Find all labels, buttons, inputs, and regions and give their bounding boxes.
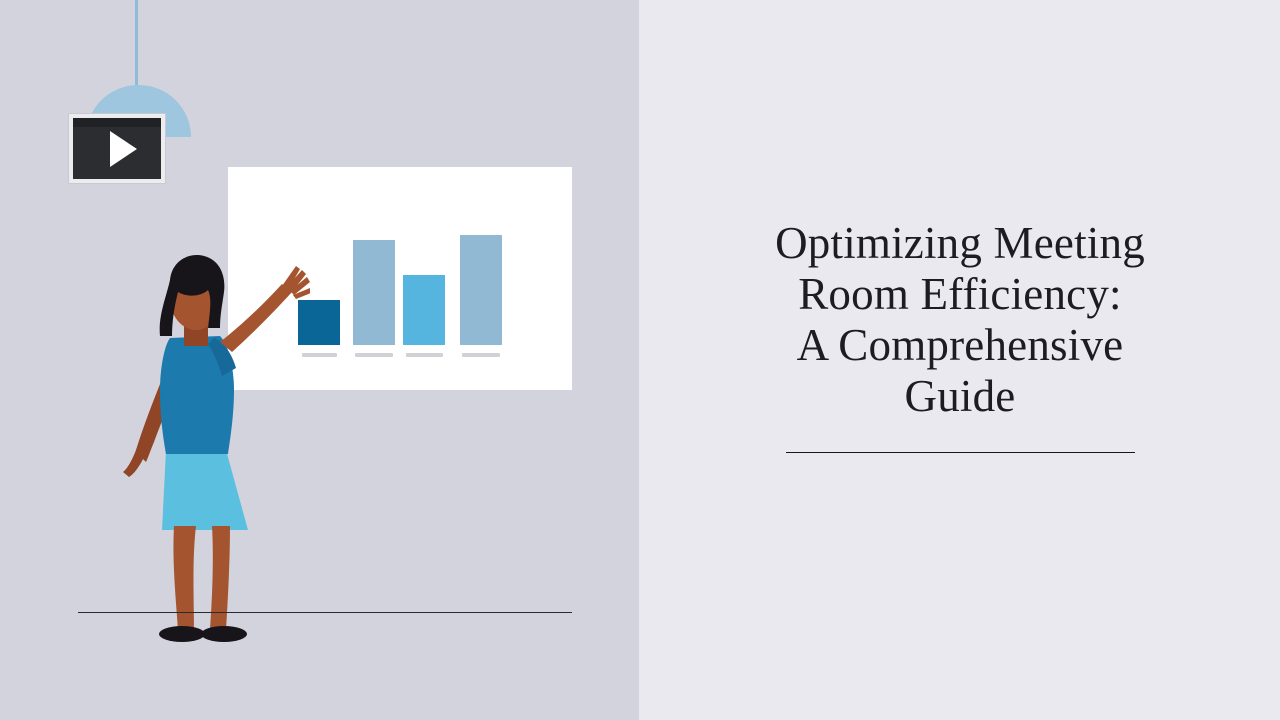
title-line-4: Guide xyxy=(712,371,1208,422)
title-block: Optimizing Meeting Room Efficiency: A Co… xyxy=(712,218,1208,422)
person-skirt xyxy=(162,450,248,530)
title-line-1: Optimizing Meeting xyxy=(712,218,1208,269)
person-left-shoe xyxy=(159,626,205,642)
page-title: Optimizing Meeting Room Efficiency: A Co… xyxy=(712,218,1208,422)
presentation-slide: Optimizing Meeting Room Efficiency: A Co… xyxy=(0,0,1280,720)
person-left-leg xyxy=(173,526,196,630)
title-divider xyxy=(786,452,1135,453)
floor-line xyxy=(78,612,572,613)
person-right-shoe xyxy=(201,626,247,642)
person-illustration xyxy=(110,250,310,650)
video-screen xyxy=(73,118,161,179)
chart-bar-2 xyxy=(353,240,395,345)
person-right-arm xyxy=(220,284,292,352)
chart-axis-label-placeholder-3 xyxy=(406,353,443,357)
title-line-2: Room Efficiency: xyxy=(712,269,1208,320)
chart-axis-label-placeholder-2 xyxy=(355,353,393,357)
pendant-lamp-cord xyxy=(135,0,138,90)
person-right-leg xyxy=(210,526,230,630)
title-line-3: A Comprehensive xyxy=(712,320,1208,371)
play-icon[interactable] xyxy=(110,131,137,167)
chart-bar-3 xyxy=(403,275,445,345)
chart-bar-4 xyxy=(460,235,502,345)
video-thumbnail-card[interactable] xyxy=(68,113,166,184)
chart-axis-label-placeholder-4 xyxy=(462,353,500,357)
